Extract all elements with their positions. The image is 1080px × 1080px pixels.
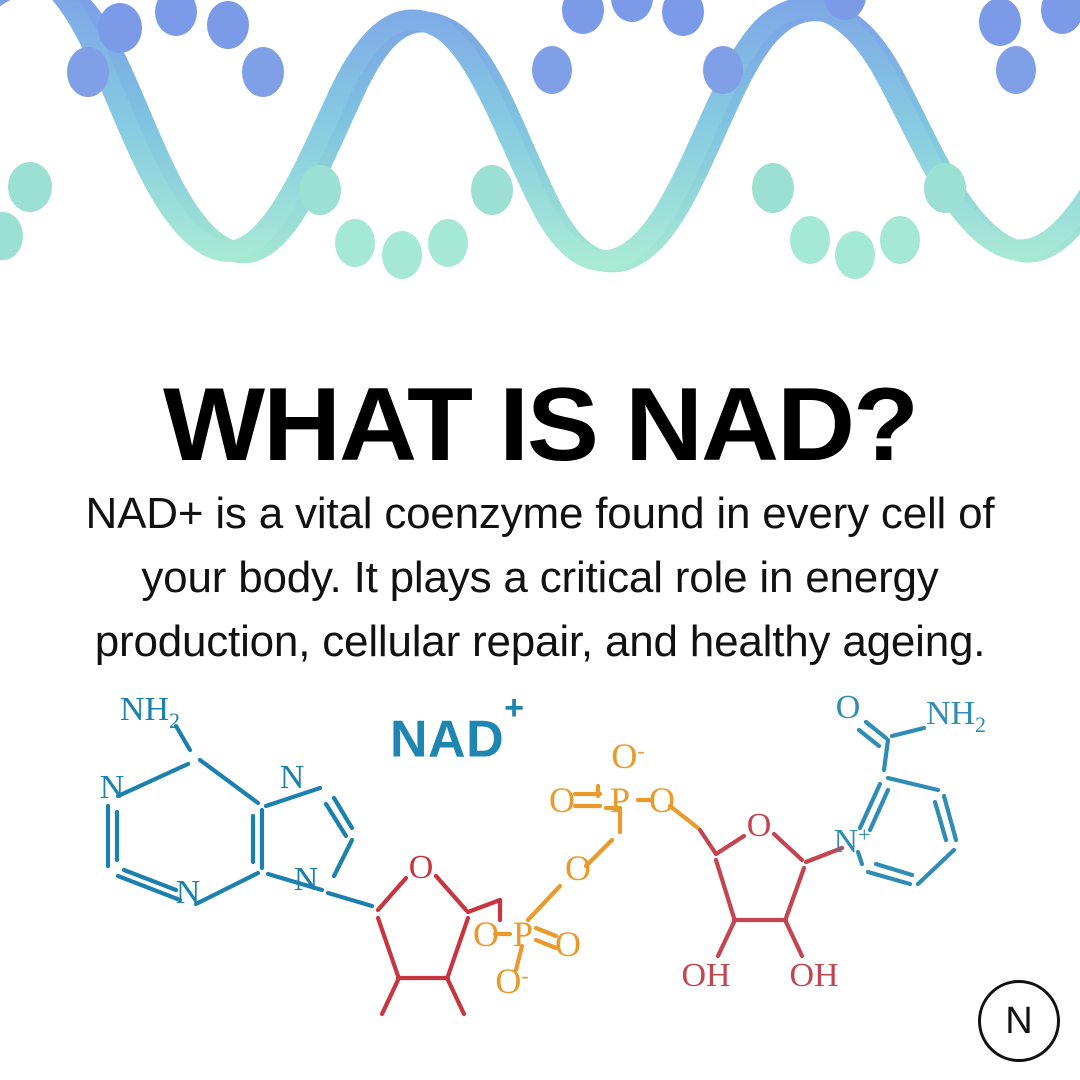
- dna-dot: [790, 216, 830, 264]
- ribose-bond: [468, 900, 500, 912]
- ribose-right-ring-o-label: O: [747, 807, 772, 844]
- phosphate-1-labels: O P O O-: [473, 914, 581, 1001]
- ribose-bond: [700, 830, 716, 854]
- adenine-bond: [196, 873, 258, 904]
- phosphate1-p-label: P: [513, 914, 533, 954]
- dna-dot: [242, 47, 284, 97]
- infographic-page: WHAT IS NAD? NAD+ is a vital coenzyme fo…: [0, 0, 1080, 1080]
- dna-dot: [67, 47, 109, 97]
- dna-dot: [0, 212, 23, 260]
- dna-dot: [98, 3, 142, 53]
- phosphate-bridge-group: [575, 786, 698, 866]
- phosphate2-p-label: P: [610, 780, 630, 820]
- dna-dot: [662, 0, 704, 36]
- dna-dot: [703, 46, 743, 94]
- dna-dot: [382, 231, 422, 279]
- ribose-right-group: [700, 830, 842, 956]
- ribose-left-oh1-label: OH: [347, 1015, 396, 1018]
- dna-dot: [532, 46, 572, 94]
- nicotinamide-bond: [884, 740, 888, 770]
- phosphate1-o-double-label: O: [555, 924, 581, 964]
- phosphate-bond: [536, 928, 556, 936]
- nicotinamide-bond: [876, 864, 912, 875]
- ribose-left-ring-o-label: O: [409, 849, 434, 886]
- nicotinamide-labels: N+ O NH2: [834, 689, 987, 860]
- dna-dot: [428, 219, 468, 267]
- adenine-n3-label: N: [176, 874, 201, 911]
- nicotinamide-group: [858, 722, 956, 884]
- phosphate-2-labels: O P O O- O: [549, 736, 675, 888]
- dna-dot: [835, 231, 875, 279]
- ribose-bond: [436, 876, 466, 910]
- ribose-bond: [786, 922, 802, 956]
- adenine-bond: [328, 893, 372, 906]
- ribose-bond: [378, 918, 398, 976]
- ribose-left-oh2-label: OH: [453, 1015, 502, 1018]
- dna-dot: [8, 162, 52, 212]
- dna-dot: [752, 163, 794, 213]
- phosphate-bond: [536, 940, 556, 948]
- page-title: WHAT IS NAD?: [0, 370, 1080, 480]
- phosphate2-o-minus-label: O-: [611, 736, 644, 776]
- dna-dot: [924, 163, 966, 213]
- dna-strand-group: [0, 0, 1080, 262]
- brand-logo-letter: N: [1005, 1002, 1032, 1040]
- dna-dot: [299, 165, 341, 215]
- body-paragraph: NAD+ is a vital coenzyme found in every …: [40, 482, 1040, 674]
- ribose-right-oh1-label: OH: [681, 957, 730, 994]
- ribose-bond: [774, 834, 802, 860]
- nicotinamide-bond: [892, 728, 924, 736]
- dna-dot: [562, 0, 604, 34]
- adenine-n7-label: N: [280, 759, 305, 796]
- amide-nh2-label: NH2: [926, 695, 986, 737]
- adenine-n9-label: N: [294, 861, 319, 898]
- ribose-bond: [716, 836, 744, 854]
- brand-logo[interactable]: N: [978, 980, 1060, 1062]
- ribose-bond: [718, 922, 734, 956]
- dna-dot: [1041, 0, 1080, 34]
- adenine-bond: [334, 840, 352, 876]
- dna-dot: [335, 219, 375, 267]
- phosphate1-o-ester-label: O: [473, 914, 499, 954]
- phosphate1-o-minus-label: O-: [495, 961, 528, 1001]
- ribose-bond: [448, 918, 468, 976]
- dna-helix-banner: [0, 0, 1080, 285]
- adenine-bond: [118, 764, 188, 796]
- dna-dot: [155, 0, 197, 36]
- dna-dot: [207, 1, 249, 49]
- nicotinamide-n-plus-label: N+: [834, 822, 871, 860]
- phosphate2-o-double-label: O: [549, 780, 575, 820]
- ribose-bond: [448, 980, 464, 1014]
- dna-dot: [880, 216, 920, 264]
- dna-dot: [471, 165, 513, 215]
- adenine-bond: [200, 760, 258, 803]
- adenine-n1-label: N: [100, 769, 125, 806]
- phosphate2-o-ester-label: O: [649, 780, 675, 820]
- nad-molecule-diagram: NH2 N N N N O OH: [0, 688, 1080, 1018]
- bridge-o-label: O: [565, 848, 591, 888]
- dna-dot: [979, 0, 1021, 46]
- ribose-right-oh2-label: OH: [789, 957, 838, 994]
- nicotinamide-bond: [918, 850, 954, 884]
- ribose-bond: [378, 878, 406, 910]
- dna-dot: [611, 0, 653, 22]
- nicotinamide-bond: [935, 802, 946, 840]
- ribose-bond: [716, 860, 734, 918]
- adenine-bond: [326, 804, 346, 836]
- nicotinamide-bond: [858, 852, 862, 864]
- adenine-nh2-label: NH2: [120, 691, 180, 733]
- adenine-group: [108, 726, 372, 906]
- nicotinamide-bond: [888, 778, 938, 790]
- carbonyl-o-label: O: [836, 689, 861, 726]
- dna-dot: [996, 46, 1036, 94]
- ribose-bond: [382, 980, 398, 1014]
- ribose-bond: [786, 868, 804, 918]
- dna-strand-b: [0, 0, 1080, 261]
